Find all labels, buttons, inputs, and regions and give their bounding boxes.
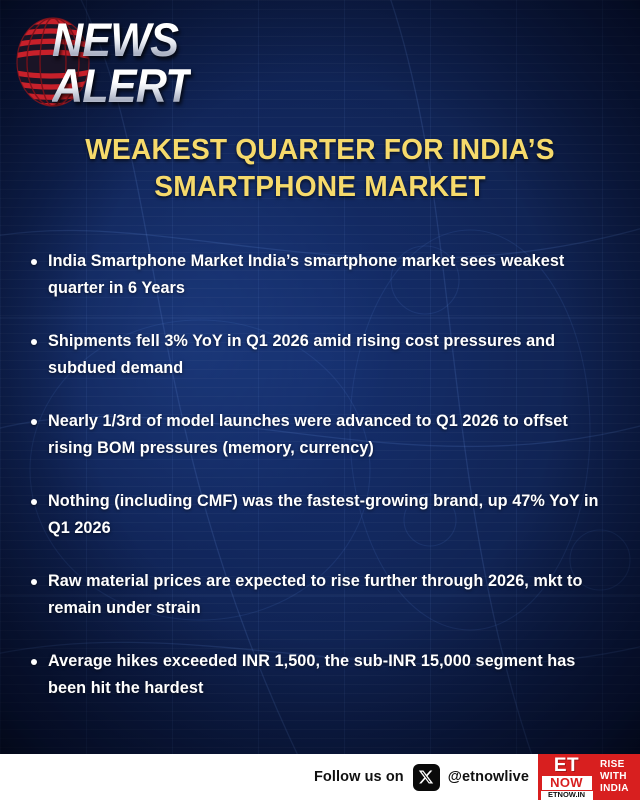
- list-item: India Smartphone Market India’s smartpho…: [26, 248, 622, 302]
- tagline-line-1: RISE: [600, 759, 640, 771]
- bullet-text: India Smartphone Market India’s smartpho…: [48, 248, 613, 302]
- list-item: Nearly 1/3rd of model launches were adva…: [26, 408, 622, 462]
- headline-line-1: WEAKEST QUARTER FOR INDIA’S: [48, 132, 591, 169]
- etnow-now-text: NOW: [550, 776, 583, 789]
- logo-line-alert: ALERT: [52, 64, 191, 108]
- footer-bar: Follow us on @etnowlive ET NOW ETNOW.IN …: [0, 754, 640, 800]
- bullet-text: Average hikes exceeded INR 1,500, the su…: [48, 648, 613, 702]
- logo-line-news: NEWS: [52, 18, 191, 62]
- bullet-dot-icon: [31, 259, 37, 265]
- etnow-site-text: ETNOW.IN: [548, 791, 585, 799]
- list-item: Nothing (including CMF) was the fastest-…: [26, 488, 622, 542]
- bullet-dot-icon: [31, 579, 37, 585]
- bullet-dot-icon: [31, 659, 37, 665]
- etnow-site-band: ETNOW.IN: [541, 791, 593, 800]
- bullet-text: Nearly 1/3rd of model launches were adva…: [48, 408, 613, 462]
- follow-label: Follow us on: [314, 769, 404, 785]
- bullet-dot-icon: [31, 499, 37, 505]
- etnow-et-text: ET: [554, 756, 579, 775]
- x-twitter-icon[interactable]: [413, 764, 440, 791]
- etnow-logo[interactable]: ET NOW ETNOW.IN RISE WITH INDIA: [538, 754, 640, 800]
- etnow-tagline: RISE WITH INDIA: [595, 754, 640, 800]
- bullet-text: Nothing (including CMF) was the fastest-…: [48, 488, 613, 542]
- headline: WEAKEST QUARTER FOR INDIA’S SMARTPHONE M…: [48, 132, 591, 206]
- list-item: Average hikes exceeded INR 1,500, the su…: [26, 648, 622, 702]
- bullet-dot-icon: [31, 419, 37, 425]
- tagline-line-3: INDIA: [600, 783, 640, 795]
- bullet-list: India Smartphone Market India’s smartpho…: [26, 248, 622, 728]
- list-item: Shipments fell 3% YoY in Q1 2026 amid ri…: [26, 328, 622, 382]
- social-handle[interactable]: @etnowlive: [448, 769, 529, 785]
- bullet-text: Raw material prices are expected to rise…: [48, 568, 613, 622]
- list-item: Raw material prices are expected to rise…: [26, 568, 622, 622]
- news-alert-card: NEWS ALERT WEAKEST QUARTER FOR INDIA’S S…: [0, 0, 640, 800]
- headline-line-2: SMARTPHONE MARKET: [48, 169, 591, 206]
- news-alert-logo: NEWS ALERT: [0, 0, 290, 122]
- etnow-mark: ET NOW ETNOW.IN: [538, 754, 595, 800]
- bullet-dot-icon: [31, 339, 37, 345]
- tagline-line-2: WITH: [600, 771, 640, 783]
- etnow-now-band: NOW: [542, 776, 592, 790]
- bullet-text: Shipments fell 3% YoY in Q1 2026 amid ri…: [48, 328, 613, 382]
